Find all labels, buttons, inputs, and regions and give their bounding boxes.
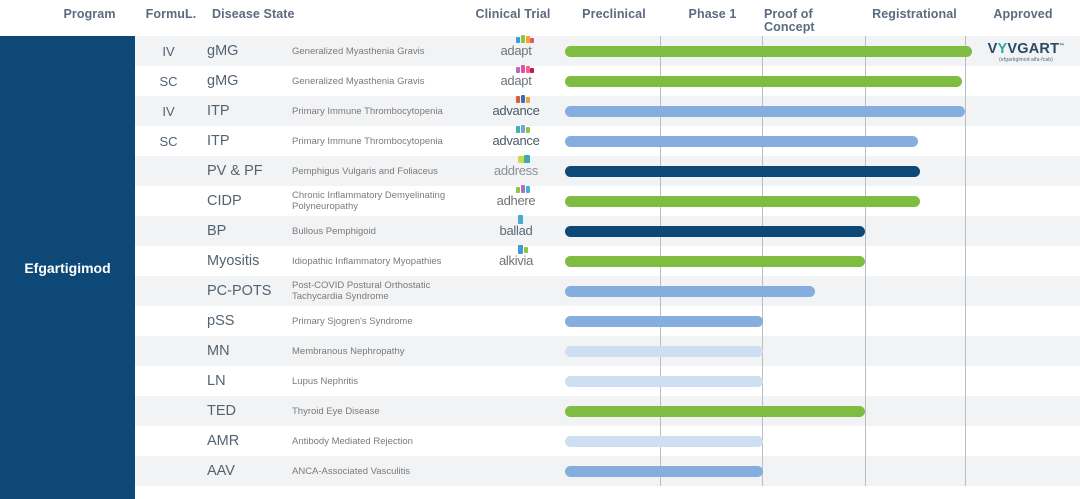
gridline xyxy=(865,456,866,486)
pipeline-chart: Program FormuL. Disease State Clinical T… xyxy=(0,0,1080,499)
header-preclinical: Preclinical xyxy=(565,8,663,21)
cell-disease-name: Generalized Myasthenia Gravis xyxy=(292,66,467,96)
stage-track xyxy=(565,396,1080,426)
progress-bar[interactable] xyxy=(565,226,865,237)
gridline xyxy=(865,396,866,426)
cell-formulation xyxy=(135,306,202,336)
progress-bar[interactable] xyxy=(565,406,865,417)
trial-logo-word: ballad xyxy=(500,223,533,238)
progress-bar[interactable] xyxy=(565,436,763,447)
trial-logo-word: advance xyxy=(492,133,539,148)
cell-disease-name: Primary Immune Thrombocytopenia xyxy=(292,126,467,156)
cell-clinical-trial xyxy=(470,456,562,486)
cell-disease-abbr: Myositis xyxy=(207,246,287,276)
table-header: Program FormuL. Disease State Clinical T… xyxy=(0,0,1080,36)
gridline xyxy=(865,246,866,276)
header-disease-state: Disease State xyxy=(212,8,295,21)
progress-bar[interactable] xyxy=(565,466,763,477)
trial-logo-ballad: ballad xyxy=(500,223,533,239)
ballad-icon xyxy=(516,215,534,224)
address-icon xyxy=(516,155,534,164)
cell-formulation xyxy=(135,276,202,306)
progress-bar[interactable] xyxy=(565,46,972,57)
gridline xyxy=(965,366,966,396)
table-row[interactable]: IVgMGGeneralized Myasthenia GravisadaptV… xyxy=(135,36,1080,66)
cell-disease-name: Lupus Nephritis xyxy=(292,366,467,396)
cell-formulation xyxy=(135,186,202,216)
cell-clinical-trial[interactable]: adapt xyxy=(470,66,562,96)
stage-track xyxy=(565,366,1080,396)
cell-formulation xyxy=(135,366,202,396)
table-row[interactable]: LNLupus Nephritis xyxy=(135,366,1080,396)
cell-clinical-trial[interactable]: advance xyxy=(470,126,562,156)
table-row[interactable]: pSSPrimary Sjogren's Syndrome xyxy=(135,306,1080,336)
cell-disease-abbr: ITP xyxy=(207,126,287,156)
program-band-efgartigimod: Efgartigimod xyxy=(0,36,135,499)
progress-bar[interactable] xyxy=(565,316,763,327)
gridline xyxy=(965,66,966,96)
progress-bar[interactable] xyxy=(565,106,965,117)
cell-disease-name: Primary Immune Thrombocytopenia xyxy=(292,96,467,126)
progress-bar[interactable] xyxy=(565,136,918,147)
cell-clinical-trial xyxy=(470,426,562,456)
cell-disease-name: Membranous Nephropathy xyxy=(292,336,467,366)
trial-logo-word: adapt xyxy=(500,73,531,88)
trial-logo-address: address xyxy=(494,163,538,179)
progress-bar[interactable] xyxy=(565,286,815,297)
advance-sc-icon xyxy=(516,125,534,134)
trial-logo-word: alkivia xyxy=(499,253,533,268)
cell-disease-name: Primary Sjogren's Syndrome xyxy=(292,306,467,336)
cell-disease-abbr: AAV xyxy=(207,456,287,486)
alkivia-icon xyxy=(516,245,534,254)
progress-bar[interactable] xyxy=(565,166,920,177)
cell-formulation xyxy=(135,336,202,366)
table-row[interactable]: TEDThyroid Eye Disease xyxy=(135,396,1080,426)
table-row[interactable]: PC-POTSPost-COVID Postural Orthostatic T… xyxy=(135,276,1080,306)
cell-clinical-trial xyxy=(470,306,562,336)
vyvgart-generic-name: (efgartigimod alfa-fcab) xyxy=(999,57,1053,63)
trial-logo-word: adhere xyxy=(497,193,536,208)
cell-clinical-trial[interactable]: ballad xyxy=(470,216,562,246)
trial-logo-adapt: adapt xyxy=(500,73,531,89)
header-program: Program xyxy=(42,8,137,21)
gridline xyxy=(865,306,866,336)
cell-formulation: SC xyxy=(135,66,202,96)
stage-track xyxy=(565,336,1080,366)
table-row[interactable]: SCITPPrimary Immune Thrombocytopeniaadva… xyxy=(135,126,1080,156)
cell-disease-abbr: pSS xyxy=(207,306,287,336)
cell-disease-name: Bullous Pemphigoid xyxy=(292,216,467,246)
cell-clinical-trial[interactable]: address xyxy=(470,156,562,186)
cell-disease-abbr: PV & PF xyxy=(207,156,287,186)
table-row[interactable]: SCgMGGeneralized Myasthenia Gravisadapt xyxy=(135,66,1080,96)
stage-track xyxy=(565,156,1080,186)
vyvgart-wordmark: VYVGART™ xyxy=(988,39,1065,56)
cell-clinical-trial[interactable]: advance xyxy=(470,96,562,126)
vyvgart-logo: VYVGART™(efgartigimod alfa-fcab) xyxy=(976,39,1076,63)
cell-formulation: IV xyxy=(135,36,202,66)
stage-track xyxy=(565,126,1080,156)
gridline xyxy=(965,276,966,306)
cell-disease-abbr: MN xyxy=(207,336,287,366)
stage-track xyxy=(565,216,1080,246)
cell-formulation xyxy=(135,456,202,486)
cell-clinical-trial xyxy=(470,396,562,426)
cell-disease-abbr: PC-POTS xyxy=(207,276,287,306)
stage-track xyxy=(565,246,1080,276)
gridline xyxy=(865,276,866,306)
cell-disease-name: ANCA-Associated Vasculitis xyxy=(292,456,467,486)
gridline xyxy=(965,456,966,486)
gridline xyxy=(965,126,966,156)
trial-logo-alkivia: alkivia xyxy=(499,253,533,269)
table-row[interactable]: IVITPPrimary Immune Thrombocytopeniaadva… xyxy=(135,96,1080,126)
cell-disease-abbr: CIDP xyxy=(207,186,287,216)
cell-disease-abbr: AMR xyxy=(207,426,287,456)
cell-disease-abbr: TED xyxy=(207,396,287,426)
advance-icon xyxy=(516,95,534,104)
progress-bar[interactable] xyxy=(565,76,962,87)
cell-disease-name: Generalized Myasthenia Gravis xyxy=(292,36,467,66)
trial-logo-advance: advance xyxy=(492,133,539,149)
header-formulation: FormuL. xyxy=(140,8,202,21)
adapt-icon xyxy=(516,35,534,44)
trial-logo-word: adapt xyxy=(500,43,531,58)
stage-track xyxy=(565,186,1080,216)
table-row[interactable]: MNMembranous Nephropathy xyxy=(135,336,1080,366)
cell-clinical-trial xyxy=(470,366,562,396)
table-row[interactable]: MyositisIdiopathic Inflammatory Myopathi… xyxy=(135,246,1080,276)
stage-track xyxy=(565,276,1080,306)
cell-formulation: IV xyxy=(135,96,202,126)
gridline xyxy=(965,156,966,186)
cell-disease-name: Pemphigus Vulgaris and Foliaceus xyxy=(292,156,467,186)
gridline xyxy=(865,336,866,366)
header-clinical-trial: Clinical Trial xyxy=(466,8,560,21)
pipeline-rows: IVgMGGeneralized Myasthenia GravisadaptV… xyxy=(135,36,1080,499)
trial-logo-advance: advance xyxy=(492,103,539,119)
header-approved: Approved xyxy=(968,8,1078,21)
table-row[interactable]: AAVANCA-Associated Vasculitis xyxy=(135,456,1080,486)
program-label: Efgartigimod xyxy=(24,260,110,276)
cell-disease-abbr: ITP xyxy=(207,96,287,126)
header-registrational: Registrational xyxy=(862,8,967,21)
trial-logo-adapt: adapt xyxy=(500,43,531,59)
cell-formulation xyxy=(135,156,202,186)
table-row[interactable]: PV & PFPemphigus Vulgaris and Foliaceusa… xyxy=(135,156,1080,186)
progress-bar[interactable] xyxy=(565,256,865,267)
cell-formulation xyxy=(135,396,202,426)
stage-track xyxy=(565,426,1080,456)
trial-logo-word: advance xyxy=(492,103,539,118)
gridline xyxy=(865,216,866,246)
gridline xyxy=(965,306,966,336)
cell-formulation xyxy=(135,426,202,456)
gridline xyxy=(965,96,966,126)
table-row[interactable]: AMRAntibody Mediated Rejection xyxy=(135,426,1080,456)
cell-formulation xyxy=(135,246,202,276)
header-phase-1: Phase 1 xyxy=(663,8,762,21)
cell-disease-abbr: gMG xyxy=(207,36,287,66)
progress-bar[interactable] xyxy=(565,376,763,387)
cell-formulation: SC xyxy=(135,126,202,156)
table-row[interactable]: CIDPChronic Inflammatory Demyelinating P… xyxy=(135,186,1080,216)
gridline xyxy=(965,246,966,276)
progress-bar[interactable] xyxy=(565,196,920,207)
cell-clinical-trial[interactable]: alkivia xyxy=(470,246,562,276)
cell-disease-name: Post-COVID Postural Orthostatic Tachycar… xyxy=(292,276,467,306)
gridline xyxy=(965,336,966,366)
gridline xyxy=(965,426,966,456)
cell-disease-name: Chronic Inflammatory Demyelinating Polyn… xyxy=(292,186,467,216)
header-proof-of-concept: Proof of Concept xyxy=(764,8,859,34)
stage-track: VYVGART™(efgartigimod alfa-fcab) xyxy=(565,36,1080,66)
trial-logo-word: address xyxy=(494,163,538,178)
stage-track xyxy=(565,96,1080,126)
cell-formulation xyxy=(135,216,202,246)
cell-clinical-trial[interactable]: adhere xyxy=(470,186,562,216)
progress-bar[interactable] xyxy=(565,346,763,357)
gridline xyxy=(865,426,866,456)
gridline xyxy=(865,366,866,396)
cell-disease-abbr: BP xyxy=(207,216,287,246)
stage-track xyxy=(565,456,1080,486)
gridline xyxy=(965,186,966,216)
cell-disease-name: Thyroid Eye Disease xyxy=(292,396,467,426)
trial-logo-adhere: adhere xyxy=(497,193,536,209)
cell-clinical-trial[interactable]: adapt xyxy=(470,36,562,66)
table-row[interactable]: BPBullous Pemphigoidballad xyxy=(135,216,1080,246)
cell-disease-name: Idiopathic Inflammatory Myopathies xyxy=(292,246,467,276)
cell-disease-abbr: gMG xyxy=(207,66,287,96)
cell-clinical-trial xyxy=(470,276,562,306)
stage-track xyxy=(565,66,1080,96)
gridline xyxy=(965,216,966,246)
cell-disease-abbr: LN xyxy=(207,366,287,396)
cell-clinical-trial xyxy=(470,336,562,366)
stage-track xyxy=(565,306,1080,336)
cell-disease-name: Antibody Mediated Rejection xyxy=(292,426,467,456)
adapt-sc-icon xyxy=(516,65,534,74)
adhere-icon xyxy=(516,185,534,194)
gridline xyxy=(965,396,966,426)
